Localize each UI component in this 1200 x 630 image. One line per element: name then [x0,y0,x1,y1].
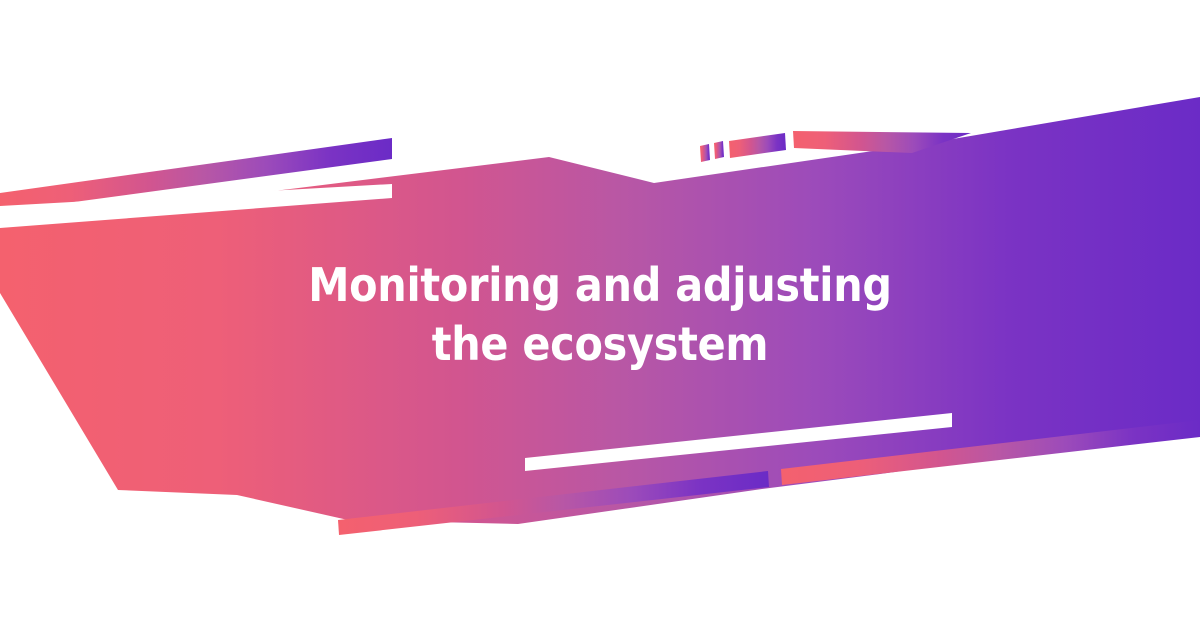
top-dash-3 [729,133,786,158]
top-dash-1 [700,144,710,162]
banner-canvas: Monitoring and adjusting the ecosystem [0,0,1200,630]
decorative-geometry [0,0,1200,630]
top-dash-2 [714,141,724,159]
